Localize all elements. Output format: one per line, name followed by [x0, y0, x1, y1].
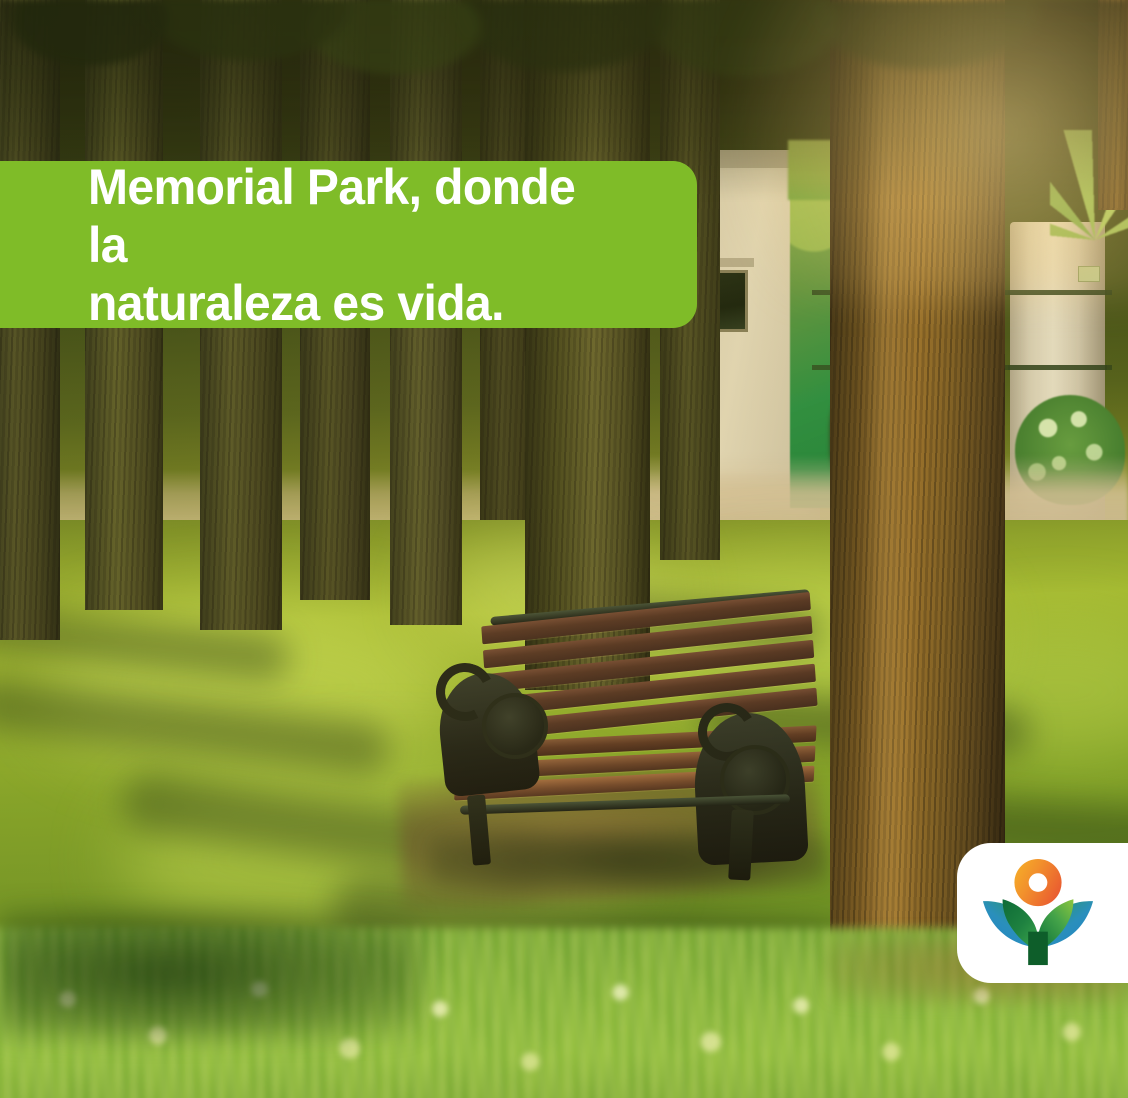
park-bench	[430, 595, 860, 885]
headline-text: Memorial Park, donde la naturaleza es vi…	[88, 158, 626, 332]
stem-shape	[1028, 932, 1048, 965]
bench-leg-right	[728, 809, 754, 880]
bench-medallion-left	[482, 693, 548, 759]
column-plaque	[1078, 266, 1100, 282]
foreground-shadow	[0, 908, 420, 1038]
plant-sun-logo-icon	[979, 857, 1097, 969]
logo-card[interactable]	[957, 843, 1128, 983]
headline-banner: Memorial Park, donde la naturaleza es vi…	[0, 161, 697, 328]
sun-donut-shape	[1014, 859, 1061, 906]
social-post-poster: Memorial Park, donde la naturaleza es vi…	[0, 0, 1128, 1098]
